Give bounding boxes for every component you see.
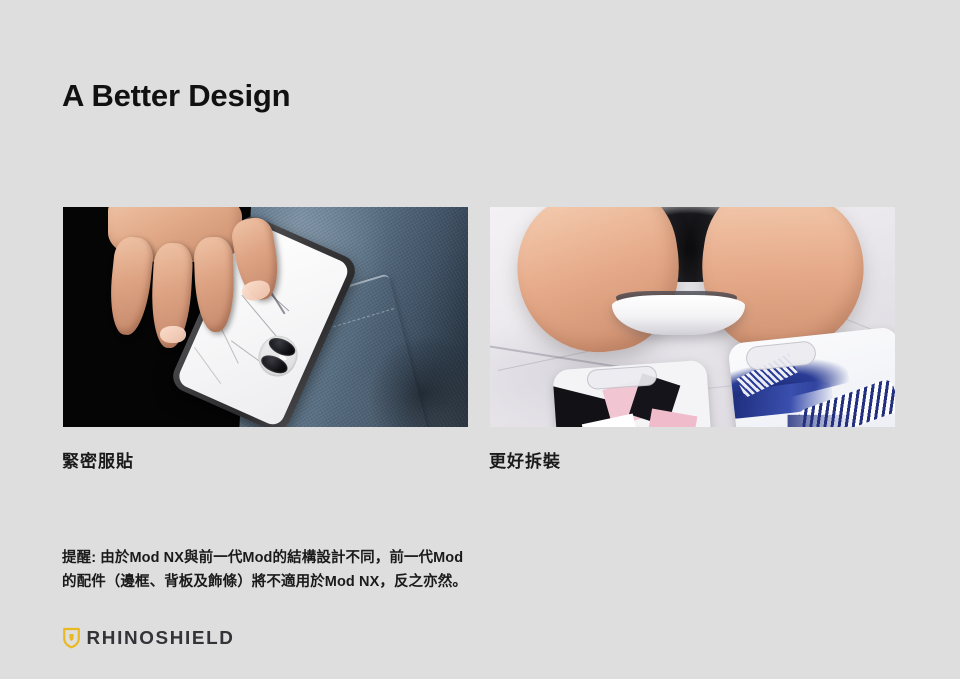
footnote: 提醒: 由於Mod NX與前一代Mod的結構設計不同，前一代Mod 的配件（邊框… bbox=[62, 547, 582, 595]
backplate-geometric-pattern bbox=[552, 360, 711, 427]
product-photo-easy-assembly bbox=[490, 207, 895, 427]
fabric-shadow bbox=[365, 334, 468, 427]
hand-holding-phone bbox=[108, 207, 294, 348]
marketing-slide: A Better Design bbox=[0, 0, 960, 679]
brand-wordmark: RHINOSHIELD bbox=[87, 627, 235, 649]
caption-tight-fit: 緊密服貼 bbox=[62, 447, 134, 472]
footnote-line-1: 提醒: 由於Mod NX與前一代Mod的結構設計不同，前一代Mod bbox=[62, 547, 582, 571]
caption-easy-assembly: 更好拆裝 bbox=[489, 447, 561, 472]
shield-icon bbox=[62, 627, 81, 649]
product-photo-tight-fit bbox=[63, 207, 468, 427]
page-title: A Better Design bbox=[62, 77, 290, 114]
brand-logo: RHINOSHIELD bbox=[62, 627, 233, 649]
backplate-great-wave-pattern bbox=[727, 326, 895, 427]
footnote-line-2: 的配件（邊框、背板及飾條）將不適用於Mod NX，反之亦然。 bbox=[62, 571, 582, 595]
